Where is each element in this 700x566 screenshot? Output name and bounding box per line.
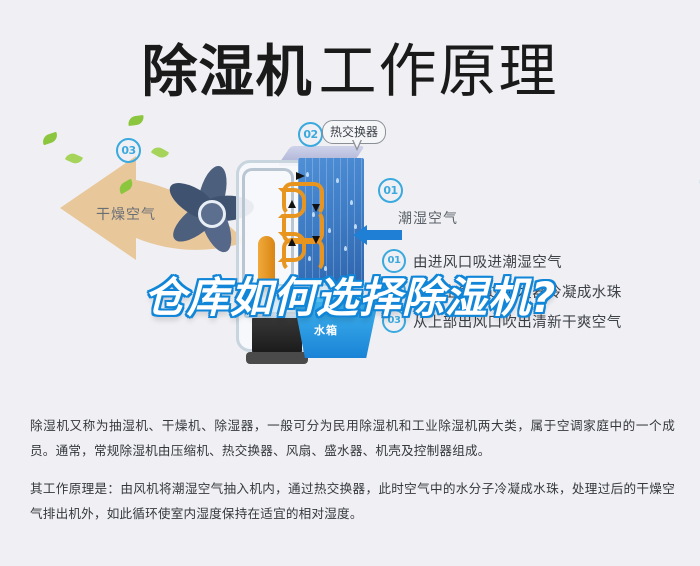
callout-tail bbox=[352, 140, 362, 151]
humid-air-label: 潮湿空气 bbox=[398, 208, 458, 228]
body-paragraph-1: 除湿机又称为抽湿机、干燥机、除湿器，一般可分为民用除湿机和工业除湿机两大类，属于… bbox=[30, 414, 675, 463]
step-number-badge: 03 bbox=[382, 309, 406, 333]
process-step: 03 从上部出风口吹出清新干爽空气 bbox=[382, 306, 682, 336]
humid-air-inflow-arrow bbox=[366, 230, 402, 240]
title-main-text: 除湿机 bbox=[141, 40, 312, 105]
body-copy: 除湿机又称为抽湿机、干燥机、除湿器，一般可分为民用除湿机和工业除湿机两大类，属于… bbox=[30, 414, 675, 526]
process-step: 01 由进风口吸进潮湿空气 bbox=[382, 246, 682, 276]
step-number-badge: 01 bbox=[382, 249, 406, 273]
diagram-badge-03: 03 bbox=[116, 138, 141, 163]
body-paragraph-2: 其工作原理是：由风机将潮湿空气抽入机内，通过热交换器，此时空气中的水分子冷凝成水… bbox=[30, 477, 675, 526]
step-number-badge: 02 bbox=[382, 279, 406, 303]
step-description: 从上部出风口吹出清新干爽空气 bbox=[413, 311, 622, 332]
leaf-icon bbox=[127, 115, 144, 126]
dehumidifier-unit: 水箱 bbox=[236, 134, 368, 370]
diagram-badge-01: 01 bbox=[378, 178, 403, 203]
step-description: 由进风口吸进潮湿空气 bbox=[413, 251, 562, 272]
page-title: 除湿机工作原理 bbox=[0, 24, 700, 108]
diagram-badge-02: 02 bbox=[298, 122, 323, 147]
refrigerant-coil bbox=[250, 178, 320, 288]
step-description: 潮湿空气经过蒸发器冷凝成水珠 bbox=[413, 281, 622, 302]
compressor-base bbox=[246, 352, 308, 364]
title-sub-text: 工作原理 bbox=[318, 37, 558, 105]
poster-page: 除湿机工作原理 bbox=[0, 0, 700, 566]
leaf-icon bbox=[41, 132, 59, 146]
water-tank-label: 水箱 bbox=[314, 322, 338, 338]
process-step: 02 潮湿空气经过蒸发器冷凝成水珠 bbox=[382, 276, 682, 306]
process-steps-list: 01 由进风口吸进潮湿空气 02 潮湿空气经过蒸发器冷凝成水珠 03 从上部出风… bbox=[382, 246, 682, 336]
fan-hub bbox=[198, 200, 226, 228]
dry-air-label: 干燥空气 bbox=[96, 204, 156, 224]
